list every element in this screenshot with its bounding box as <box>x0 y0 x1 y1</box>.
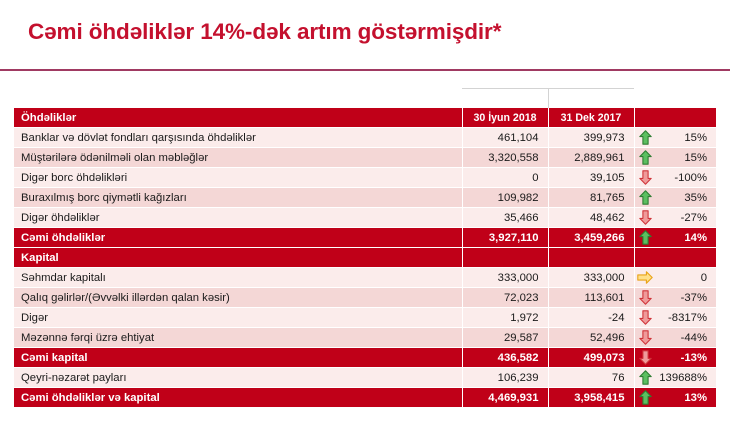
row-change-percent: -37% <box>656 288 716 308</box>
row-value-prior: 333,000 <box>548 268 634 288</box>
row-trend-arrow <box>634 308 656 328</box>
row-change-percent <box>656 248 716 268</box>
table-header-row: Öhdəliklər30 İyun 201831 Dek 2017 <box>14 108 716 128</box>
row-label: Müştərilərə ödənilməli olan məbləğlər <box>14 148 462 168</box>
row-value-prior: 113,601 <box>548 288 634 308</box>
row-label: Cəmi öhdəliklər <box>14 228 462 248</box>
column-header-arrow <box>634 108 656 128</box>
row-change-percent: -8317% <box>656 308 716 328</box>
row-value-prior: 48,462 <box>548 208 634 228</box>
row-value-current <box>462 248 548 268</box>
row-value-prior <box>548 248 634 268</box>
row-value-current: 3,320,558 <box>462 148 548 168</box>
row-label: Səhmdar kapitalı <box>14 268 462 288</box>
spacer-cell <box>14 89 462 109</box>
column-header-label: Öhdəliklər <box>14 108 462 128</box>
financial-table-container: Öhdəliklər30 İyun 201831 Dek 2017Banklar… <box>14 88 716 408</box>
arrow-up-green-icon <box>639 390 652 405</box>
row-change-percent: -100% <box>656 168 716 188</box>
arrow-right-yellow-icon <box>637 271 653 284</box>
arrow-down-red-icon <box>639 350 652 365</box>
page-title: Cəmi öhdəliklər 14%-dək artım göstərmişd… <box>28 19 501 45</box>
row-value-current: 109,982 <box>462 188 548 208</box>
row-label: Banklar və dövlət fondları qarşısında öh… <box>14 128 462 148</box>
row-label: Cəmi kapital <box>14 348 462 368</box>
row-value-current: 461,104 <box>462 128 548 148</box>
row-trend-arrow <box>634 148 656 168</box>
row-value-prior: 499,073 <box>548 348 634 368</box>
row-trend-arrow <box>634 328 656 348</box>
row-value-prior: 81,765 <box>548 188 634 208</box>
row-change-percent: -13% <box>656 348 716 368</box>
row-label: Qeyri-nəzarət payları <box>14 368 462 388</box>
table-row: Məzənnə fərqi üzrə ehtiyat29,58752,496-4… <box>14 328 716 348</box>
row-label: Məzənnə fərqi üzrə ehtiyat <box>14 328 462 348</box>
row-change-percent: -27% <box>656 208 716 228</box>
row-value-prior: 52,496 <box>548 328 634 348</box>
row-change-percent: 13% <box>656 388 716 408</box>
row-trend-arrow <box>634 248 656 268</box>
row-change-percent: 0 <box>656 268 716 288</box>
row-value-prior: 39,105 <box>548 168 634 188</box>
row-change-percent: 35% <box>656 188 716 208</box>
row-trend-arrow <box>634 188 656 208</box>
row-trend-arrow <box>634 268 656 288</box>
spacer-cell <box>656 89 716 109</box>
arrow-up-green-icon <box>639 230 652 245</box>
row-label: Digər öhdəliklər <box>14 208 462 228</box>
table-row: Digər1,972-24-8317% <box>14 308 716 328</box>
row-trend-arrow <box>634 128 656 148</box>
row-value-current: 0 <box>462 168 548 188</box>
row-value-current: 35,466 <box>462 208 548 228</box>
spacer-rule-current <box>462 89 548 109</box>
column-header-change <box>656 108 716 128</box>
table-total-row: Cəmi kapital436,582499,073-13% <box>14 348 716 368</box>
row-value-current: 72,023 <box>462 288 548 308</box>
row-label: Digər <box>14 308 462 328</box>
arrow-down-red-icon <box>639 170 652 185</box>
row-value-prior: 3,459,266 <box>548 228 634 248</box>
row-trend-arrow <box>634 368 656 388</box>
table-row: Buraxılmış borc qiymətli kağızları109,98… <box>14 188 716 208</box>
table-total-row: Cəmi öhdəliklər3,927,1103,459,26614% <box>14 228 716 248</box>
row-value-current: 1,972 <box>462 308 548 328</box>
row-trend-arrow <box>634 388 656 408</box>
column-header-current: 30 İyun 2018 <box>462 108 548 128</box>
column-header-prior: 31 Dek 2017 <box>548 108 634 128</box>
row-value-current: 29,587 <box>462 328 548 348</box>
arrow-up-green-icon <box>639 370 652 385</box>
table-row: Digər öhdəliklər35,46648,462-27% <box>14 208 716 228</box>
row-label: Buraxılmış borc qiymətli kağızları <box>14 188 462 208</box>
table-section-row: Kapital <box>14 248 716 268</box>
spacer-cell <box>634 89 656 109</box>
row-value-current: 4,469,931 <box>462 388 548 408</box>
financial-table: Öhdəliklər30 İyun 201831 Dek 2017Banklar… <box>14 88 716 408</box>
row-trend-arrow <box>634 288 656 308</box>
row-change-percent: 14% <box>656 228 716 248</box>
row-change-percent: 139688% <box>656 368 716 388</box>
spacer-rule-prior <box>548 89 634 109</box>
table-total-row: Cəmi öhdəliklər və kapital4,469,9313,958… <box>14 388 716 408</box>
arrow-down-red-icon <box>639 210 652 225</box>
table-row: Banklar və dövlət fondları qarşısında öh… <box>14 128 716 148</box>
row-value-prior: 399,973 <box>548 128 634 148</box>
table-row: Səhmdar kapitalı333,000333,0000 <box>14 268 716 288</box>
arrow-down-red-icon <box>639 310 652 325</box>
table-spacer-row <box>14 89 716 109</box>
row-change-percent: -44% <box>656 328 716 348</box>
row-value-current: 436,582 <box>462 348 548 368</box>
table-row: Digər borc öhdəlikləri039,105-100% <box>14 168 716 188</box>
row-value-current: 333,000 <box>462 268 548 288</box>
slide: Cəmi öhdəliklər 14%-dək artım göstərmişd… <box>0 0 730 433</box>
arrow-up-green-icon <box>639 130 652 145</box>
table-row: Müştərilərə ödənilməli olan məbləğlər3,3… <box>14 148 716 168</box>
row-label: Digər borc öhdəlikləri <box>14 168 462 188</box>
row-value-current: 106,239 <box>462 368 548 388</box>
row-trend-arrow <box>634 228 656 248</box>
arrow-up-green-icon <box>639 190 652 205</box>
title-divider <box>0 69 730 71</box>
arrow-down-red-icon <box>639 290 652 305</box>
row-label: Kapital <box>14 248 462 268</box>
row-trend-arrow <box>634 348 656 368</box>
row-value-current: 3,927,110 <box>462 228 548 248</box>
row-trend-arrow <box>634 168 656 188</box>
row-change-percent: 15% <box>656 148 716 168</box>
row-value-prior: -24 <box>548 308 634 328</box>
row-value-prior: 3,958,415 <box>548 388 634 408</box>
row-label: Qalıq gəlirlər/(Əvvəlki illərdən qalan k… <box>14 288 462 308</box>
arrow-up-green-icon <box>639 150 652 165</box>
table-row: Qeyri-nəzarət payları106,23976139688% <box>14 368 716 388</box>
row-value-prior: 76 <box>548 368 634 388</box>
row-trend-arrow <box>634 208 656 228</box>
row-change-percent: 15% <box>656 128 716 148</box>
arrow-down-red-icon <box>639 330 652 345</box>
row-label: Cəmi öhdəliklər və kapital <box>14 388 462 408</box>
row-value-prior: 2,889,961 <box>548 148 634 168</box>
table-row: Qalıq gəlirlər/(Əvvəlki illərdən qalan k… <box>14 288 716 308</box>
